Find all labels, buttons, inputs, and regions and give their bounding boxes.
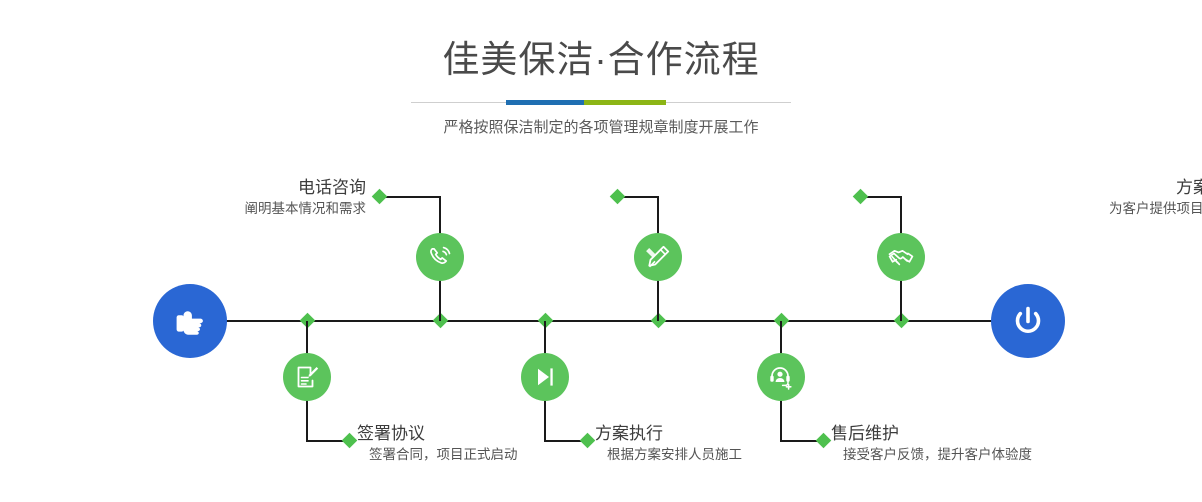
title-divider (411, 100, 791, 105)
document-edit-icon (292, 362, 322, 392)
leader-1 (380, 196, 441, 198)
label-diamond-3 (610, 189, 626, 205)
step-icon-badge-5[interactable] (877, 233, 925, 281)
step-icon-badge-3[interactable] (634, 233, 682, 281)
timeline: 电话咨询 阐明基本情况和需求 (0, 150, 1202, 502)
timeline-axis (155, 320, 1047, 322)
divider-segment-blue (506, 100, 584, 105)
handshake-icon (886, 242, 916, 272)
page-subtitle: 严格按照保洁制定的各项管理规章制度开展工作 (0, 105, 1202, 139)
label-diamond-5 (853, 189, 869, 205)
divider-segment-green (584, 100, 666, 105)
step-icon-badge-4[interactable] (521, 353, 569, 401)
step-desc-3: 为客户提供项目策策划 (924, 199, 1202, 219)
step-label-6: 售后维护 接受客户反馈，提升客户体验度 (831, 422, 1171, 465)
step-icon-badge-1[interactable] (416, 233, 464, 281)
step-title-3: 方案定制 (924, 176, 1202, 199)
timeline-end-node[interactable] (991, 284, 1065, 358)
step-desc-6: 接受客户反馈，提升客户体验度 (831, 445, 1171, 465)
timeline-start-node[interactable] (153, 284, 227, 358)
step-title-1: 电话咨询 (46, 176, 366, 199)
step-label-3: 方案定制 为客户提供项目策策划 (924, 176, 1202, 219)
step-icon-badge-2[interactable] (283, 353, 331, 401)
page-title: 佳美保洁·合作流程 (0, 0, 1202, 84)
flow-diagram: 佳美保洁·合作流程 严格按照保洁制定的各项管理规章制度开展工作 (0, 0, 1202, 502)
pencil-ruler-icon (643, 242, 673, 272)
phone-call-icon (425, 242, 455, 272)
headset-support-icon (766, 362, 796, 392)
step-title-6: 售后维护 (831, 422, 1171, 445)
power-icon (1008, 301, 1048, 341)
play-step-icon (530, 362, 560, 392)
step-desc-1: 阐明基本情况和需求 (46, 199, 366, 219)
pointing-hand-icon (170, 301, 210, 341)
step-icon-badge-6[interactable] (757, 353, 805, 401)
label-diamond-2 (342, 433, 358, 449)
header: 佳美保洁·合作流程 严格按照保洁制定的各项管理规章制度开展工作 (0, 0, 1202, 139)
label-diamond-1 (372, 189, 388, 205)
step-label-1: 电话咨询 阐明基本情况和需求 (46, 176, 366, 219)
